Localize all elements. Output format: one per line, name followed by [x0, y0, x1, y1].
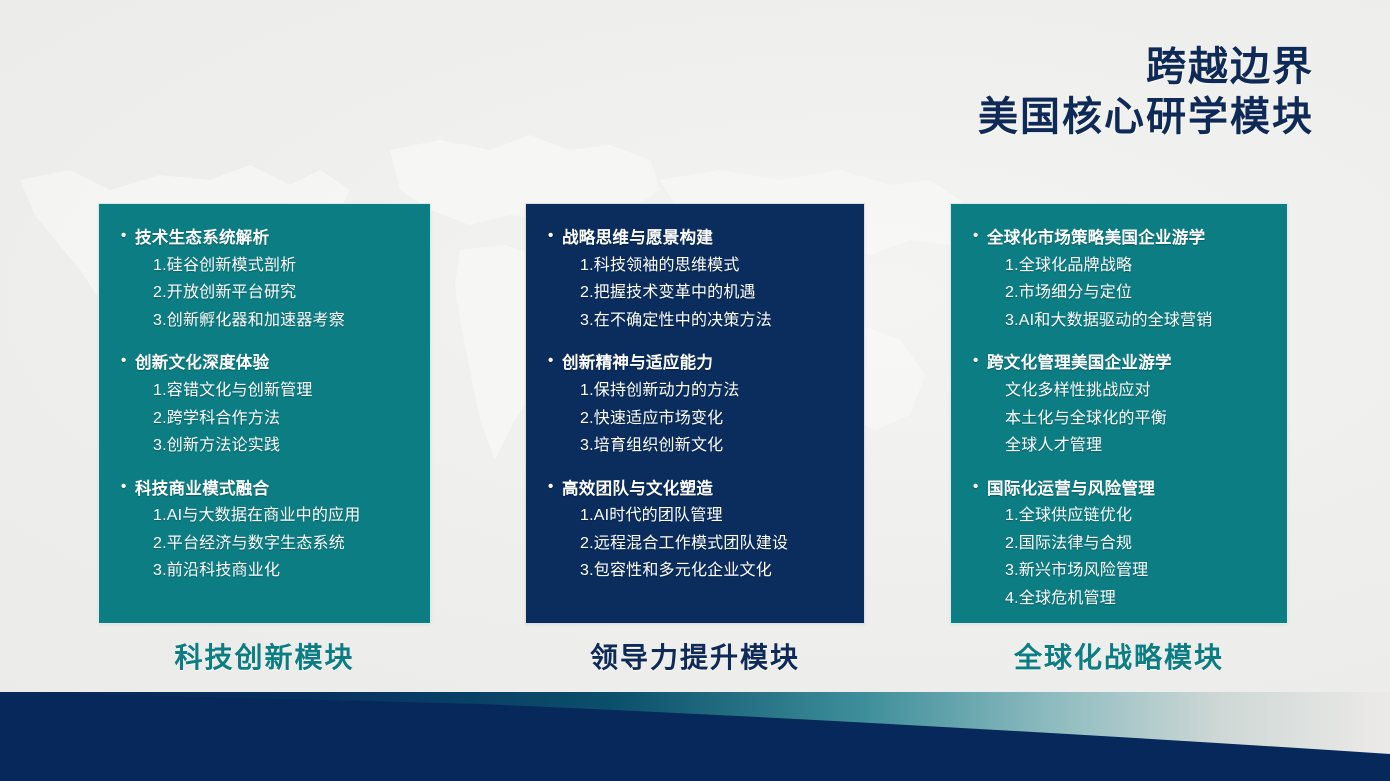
card-tech-innovation[interactable]: 技术生态系统解析1.硅谷创新模式剖析2.开放创新平台研究3.创新孵化器和加速器考… [98, 203, 431, 624]
group-item-list: 1.全球供应链优化2.国际法律与合规3.新兴市场风险管理4.全球危机管理 [973, 502, 1271, 612]
group-title: 战略思维与愿景构建 [548, 226, 848, 251]
group-item: 4.全球危机管理 [973, 585, 1271, 613]
group-item-list: 1.AI与大数据在商业中的应用2.平台经济与数字生态系统3.前沿科技商业化 [121, 502, 414, 585]
group-item-list: 1.全球化品牌战略2.市场细分与定位3.AI和大数据驱动的全球营销 [973, 252, 1271, 335]
group-item: 3.前沿科技商业化 [121, 557, 414, 585]
title-line-2: 美国核心研学模块 [978, 92, 1314, 142]
group-item-list: 1.科技领袖的思维模式2.把握技术变革中的机遇3.在不确定性中的决策方法 [548, 252, 848, 335]
module-caption-2: 全球化战略模块 [950, 636, 1288, 676]
group-item: 3.培育组织创新文化 [548, 432, 848, 460]
group-item: 3.创新方法论实践 [121, 432, 414, 460]
group-title: 科技商业模式融合 [121, 477, 414, 502]
group-item: 1.硅谷创新模式剖析 [121, 252, 414, 280]
bottom-decorative-band [0, 692, 1390, 781]
group-item: 2.市场细分与定位 [973, 279, 1271, 307]
module-group: 战略思维与愿景构建1.科技领袖的思维模式2.把握技术变革中的机遇3.在不确定性中… [548, 226, 848, 334]
group-item: 2.国际法律与合规 [973, 530, 1271, 558]
group-item: 全球人才管理 [973, 432, 1271, 460]
group-title: 跨文化管理美国企业游学 [973, 351, 1271, 376]
group-item-list: 1.容错文化与创新管理2.跨学科合作方法3.创新方法论实践 [121, 377, 414, 460]
group-title: 全球化市场策略美国企业游学 [973, 226, 1271, 251]
group-title: 国际化运营与风险管理 [973, 477, 1271, 502]
group-item: 2.把握技术变革中的机遇 [548, 279, 848, 307]
group-item: 1.全球供应链优化 [973, 502, 1271, 530]
module-group: 创新精神与适应能力1.保持创新动力的方法2.快速适应市场变化3.培育组织创新文化 [548, 351, 848, 459]
group-item: 2.开放创新平台研究 [121, 279, 414, 307]
group-item: 1.科技领袖的思维模式 [548, 252, 848, 280]
group-item-list: 1.AI时代的团队管理2.远程混合工作模式团队建设3.包容性和多元化企业文化 [548, 502, 848, 585]
module-group: 国际化运营与风险管理1.全球供应链优化2.国际法律与合规3.新兴市场风险管理4.… [973, 477, 1271, 613]
module-cards-row: 技术生态系统解析1.硅谷创新模式剖析2.开放创新平台研究3.创新孵化器和加速器考… [0, 203, 1390, 624]
module-captions-row: 科技创新模块领导力提升模块全球化战略模块 [0, 636, 1390, 682]
group-item-list: 1.保持创新动力的方法2.快速适应市场变化3.培育组织创新文化 [548, 377, 848, 460]
module-group: 科技商业模式融合1.AI与大数据在商业中的应用2.平台经济与数字生态系统3.前沿… [121, 477, 414, 585]
group-title: 创新文化深度体验 [121, 351, 414, 376]
group-item: 1.AI与大数据在商业中的应用 [121, 502, 414, 530]
module-group: 全球化市场策略美国企业游学1.全球化品牌战略2.市场细分与定位3.AI和大数据驱… [973, 226, 1271, 334]
module-group: 创新文化深度体验1.容错文化与创新管理2.跨学科合作方法3.创新方法论实践 [121, 351, 414, 459]
module-caption-0: 科技创新模块 [98, 636, 431, 676]
group-item: 1.保持创新动力的方法 [548, 377, 848, 405]
group-item: 2.远程混合工作模式团队建设 [548, 530, 848, 558]
module-group: 高效团队与文化塑造1.AI时代的团队管理2.远程混合工作模式团队建设3.包容性和… [548, 477, 848, 585]
group-item: 2.平台经济与数字生态系统 [121, 530, 414, 558]
title-line-1: 跨越边界 [978, 42, 1314, 92]
group-item-list: 文化多样性挑战应对本土化与全球化的平衡全球人才管理 [973, 377, 1271, 460]
group-title: 创新精神与适应能力 [548, 351, 848, 376]
group-item-list: 1.硅谷创新模式剖析2.开放创新平台研究3.创新孵化器和加速器考察 [121, 252, 414, 335]
group-item: 3.在不确定性中的决策方法 [548, 307, 848, 335]
module-group: 技术生态系统解析1.硅谷创新模式剖析2.开放创新平台研究3.创新孵化器和加速器考… [121, 226, 414, 334]
group-item: 文化多样性挑战应对 [973, 377, 1271, 405]
group-item: 本土化与全球化的平衡 [973, 405, 1271, 433]
group-item: 2.跨学科合作方法 [121, 405, 414, 433]
card-globalization[interactable]: 全球化市场策略美国企业游学1.全球化品牌战略2.市场细分与定位3.AI和大数据驱… [950, 203, 1288, 624]
band-navy-wedge [0, 692, 1390, 781]
group-item: 2.快速适应市场变化 [548, 405, 848, 433]
module-group: 跨文化管理美国企业游学文化多样性挑战应对本土化与全球化的平衡全球人才管理 [973, 351, 1271, 459]
module-caption-1: 领导力提升模块 [525, 636, 865, 676]
group-item: 3.包容性和多元化企业文化 [548, 557, 848, 585]
group-item: 1.AI时代的团队管理 [548, 502, 848, 530]
group-item: 3.创新孵化器和加速器考察 [121, 307, 414, 335]
card-leadership[interactable]: 战略思维与愿景构建1.科技领袖的思维模式2.把握技术变革中的机遇3.在不确定性中… [525, 203, 865, 624]
group-item: 3.AI和大数据驱动的全球营销 [973, 307, 1271, 335]
group-title: 技术生态系统解析 [121, 226, 414, 251]
slide-canvas: 跨越边界 美国核心研学模块 技术生态系统解析1.硅谷创新模式剖析2.开放创新平台… [0, 0, 1390, 781]
group-item: 3.新兴市场风险管理 [973, 557, 1271, 585]
group-item: 1.容错文化与创新管理 [121, 377, 414, 405]
slide-title: 跨越边界 美国核心研学模块 [978, 42, 1314, 142]
group-item: 1.全球化品牌战略 [973, 252, 1271, 280]
group-title: 高效团队与文化塑造 [548, 477, 848, 502]
